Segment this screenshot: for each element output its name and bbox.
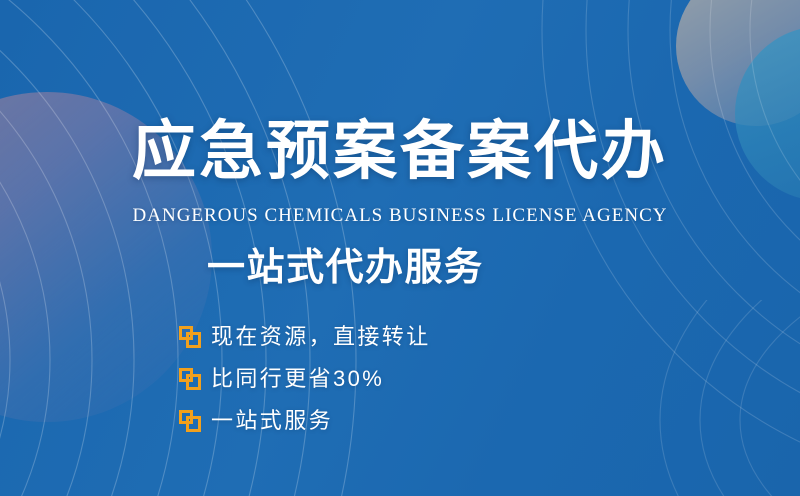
list-item: 现在资源，直接转让 xyxy=(179,317,431,356)
list-item-label: 一站式服务 xyxy=(211,410,333,432)
page-title: 应急预案备案代办 xyxy=(0,119,800,183)
english-subtitle: DANGEROUS CHEMICALS BUSINESS LICENSE AGE… xyxy=(0,206,800,225)
list-item-label: 现在资源，直接转让 xyxy=(211,326,431,348)
service-subtitle: 一站式代办服务 xyxy=(207,249,484,287)
list-item: 一站式服务 xyxy=(179,401,431,440)
list-item: 比同行更省30% xyxy=(179,359,431,398)
list-item-label: 比同行更省30% xyxy=(211,368,384,390)
overlapping-squares-icon xyxy=(179,410,201,432)
promo-banner: 应急预案备案代办 DANGEROUS CHEMICALS BUSINESS LI… xyxy=(0,0,800,496)
overlapping-squares-icon xyxy=(179,326,201,348)
feature-list: 现在资源，直接转让 比同行更省30% 一站式服务 xyxy=(179,317,431,443)
overlapping-squares-icon xyxy=(179,368,201,390)
